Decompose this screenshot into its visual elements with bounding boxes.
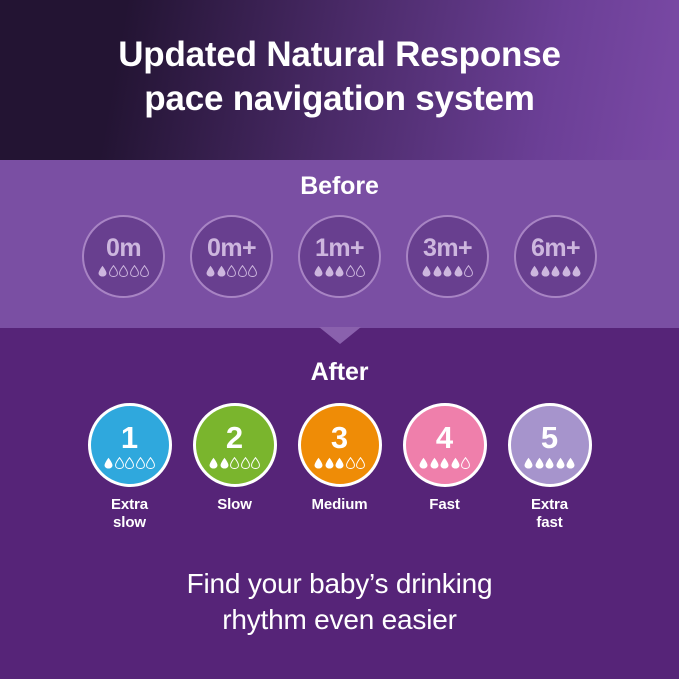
before-heading: Before xyxy=(300,172,379,201)
droplet-empty-icon xyxy=(464,265,473,277)
after-flow-droplets xyxy=(314,457,365,469)
after-item: 5Extrafast xyxy=(508,403,592,532)
after-item: 2Slow xyxy=(193,403,277,514)
droplet-filled-icon xyxy=(98,265,107,277)
after-flow-droplets xyxy=(104,457,155,469)
droplet-filled-icon xyxy=(422,265,431,277)
before-item: 0m xyxy=(82,215,165,298)
page-title-line-2: pace navigation system xyxy=(118,77,561,121)
page-title: Updated Natural Response pace navigation… xyxy=(118,33,561,127)
before-age-label: 1m+ xyxy=(315,236,364,261)
after-pace-number: 2 xyxy=(226,422,243,453)
droplet-filled-icon xyxy=(443,265,452,277)
before-age-label: 0m xyxy=(106,236,141,261)
droplet-empty-icon xyxy=(346,265,355,277)
before-item: 1m+ xyxy=(298,215,381,298)
after-pace-label: Medium xyxy=(311,496,367,514)
after-pace-label: Extraslow xyxy=(111,496,148,532)
droplet-filled-icon xyxy=(440,457,449,469)
droplet-filled-icon xyxy=(454,265,463,277)
before-age-label: 6m+ xyxy=(531,236,580,261)
after-pace-number: 4 xyxy=(436,422,453,453)
droplet-filled-icon xyxy=(104,457,113,469)
after-item: 3Medium xyxy=(298,403,382,514)
droplet-filled-icon xyxy=(562,265,571,277)
before-flow-droplets xyxy=(314,265,365,277)
before-age-circle: 0m xyxy=(82,215,165,298)
droplet-filled-icon xyxy=(524,457,533,469)
droplet-filled-icon xyxy=(572,265,581,277)
after-item: 4Fast xyxy=(403,403,487,514)
before-section: Before 0m0m+1m+3m+6m+ xyxy=(0,160,679,328)
after-pace-label: Slow xyxy=(217,496,252,514)
before-circle-row: 0m0m+1m+3m+6m+ xyxy=(82,215,597,298)
droplet-empty-icon xyxy=(140,265,149,277)
before-age-circle: 0m+ xyxy=(190,215,273,298)
droplet-filled-icon xyxy=(551,265,560,277)
droplet-empty-icon xyxy=(241,457,250,469)
droplet-filled-icon xyxy=(335,265,344,277)
tagline: Find your baby’s drinking rhythm even ea… xyxy=(187,566,493,639)
droplet-empty-icon xyxy=(248,265,257,277)
droplet-empty-icon xyxy=(356,265,365,277)
before-flow-droplets xyxy=(422,265,473,277)
droplet-filled-icon xyxy=(433,265,442,277)
after-pace-circle: 1 xyxy=(88,403,172,487)
droplet-empty-icon xyxy=(125,457,134,469)
after-pace-label: Fast xyxy=(429,496,459,514)
droplet-filled-icon xyxy=(206,265,215,277)
droplet-empty-icon xyxy=(356,457,365,469)
droplet-empty-icon xyxy=(230,457,239,469)
after-pace-number: 5 xyxy=(541,422,558,453)
droplet-filled-icon xyxy=(335,457,344,469)
droplet-filled-icon xyxy=(545,457,554,469)
droplet-filled-icon xyxy=(220,457,229,469)
droplet-empty-icon xyxy=(146,457,155,469)
after-pace-label-line-1: Slow xyxy=(217,496,252,514)
after-pace-number: 3 xyxy=(331,422,348,453)
droplet-filled-icon xyxy=(314,457,323,469)
droplet-filled-icon xyxy=(325,265,334,277)
droplet-empty-icon xyxy=(461,457,470,469)
after-flow-droplets xyxy=(419,457,470,469)
droplet-filled-icon xyxy=(535,457,544,469)
droplet-filled-icon xyxy=(217,265,226,277)
droplet-filled-icon xyxy=(530,265,539,277)
after-circle-row: 1Extraslow2Slow3Medium4Fast5Extrafast xyxy=(88,403,592,532)
before-item: 6m+ xyxy=(514,215,597,298)
droplet-filled-icon xyxy=(314,265,323,277)
after-pace-label-line-1: Medium xyxy=(311,496,367,514)
before-age-label: 0m+ xyxy=(207,236,256,261)
droplet-empty-icon xyxy=(251,457,260,469)
after-section: After 1Extraslow2Slow3Medium4Fast5Extraf… xyxy=(0,328,679,679)
before-item: 0m+ xyxy=(190,215,273,298)
after-pace-label-line-1: Extra xyxy=(111,496,148,514)
after-pace-label: Extrafast xyxy=(531,496,568,532)
header-banner: Updated Natural Response pace navigation… xyxy=(0,0,679,160)
infographic-root: Updated Natural Response pace navigation… xyxy=(0,0,679,679)
droplet-empty-icon xyxy=(346,457,355,469)
after-pace-circle: 2 xyxy=(193,403,277,487)
before-age-circle: 3m+ xyxy=(406,215,489,298)
droplet-empty-icon xyxy=(119,265,128,277)
droplet-filled-icon xyxy=(556,457,565,469)
droplet-empty-icon xyxy=(109,265,118,277)
after-pace-number: 1 xyxy=(121,422,138,453)
before-flow-droplets xyxy=(206,265,257,277)
before-age-circle: 6m+ xyxy=(514,215,597,298)
after-flow-droplets xyxy=(209,457,260,469)
tagline-line-2: rhythm even easier xyxy=(187,602,493,638)
before-flow-droplets xyxy=(98,265,149,277)
droplet-filled-icon xyxy=(209,457,218,469)
droplet-empty-icon xyxy=(238,265,247,277)
before-age-label: 3m+ xyxy=(423,236,472,261)
tagline-line-1: Find your baby’s drinking xyxy=(187,566,493,602)
after-heading: After xyxy=(311,358,369,387)
before-item: 3m+ xyxy=(406,215,489,298)
page-title-line-1: Updated Natural Response xyxy=(118,33,561,77)
before-age-circle: 1m+ xyxy=(298,215,381,298)
droplet-filled-icon xyxy=(541,265,550,277)
after-pace-circle: 3 xyxy=(298,403,382,487)
droplet-filled-icon xyxy=(451,457,460,469)
droplet-filled-icon xyxy=(430,457,439,469)
droplet-empty-icon xyxy=(227,265,236,277)
after-pace-label-line-2: slow xyxy=(111,514,148,532)
droplet-empty-icon xyxy=(130,265,139,277)
after-item: 1Extraslow xyxy=(88,403,172,532)
after-pace-circle: 4 xyxy=(403,403,487,487)
after-pace-label-line-1: Extra xyxy=(531,496,568,514)
after-pace-label-line-1: Fast xyxy=(429,496,459,514)
droplet-filled-icon xyxy=(325,457,334,469)
before-flow-droplets xyxy=(530,265,581,277)
droplet-empty-icon xyxy=(136,457,145,469)
after-pace-circle: 5 xyxy=(508,403,592,487)
droplet-filled-icon xyxy=(419,457,428,469)
after-pace-label-line-2: fast xyxy=(531,514,568,532)
after-flow-droplets xyxy=(524,457,575,469)
droplet-filled-icon xyxy=(566,457,575,469)
droplet-empty-icon xyxy=(115,457,124,469)
